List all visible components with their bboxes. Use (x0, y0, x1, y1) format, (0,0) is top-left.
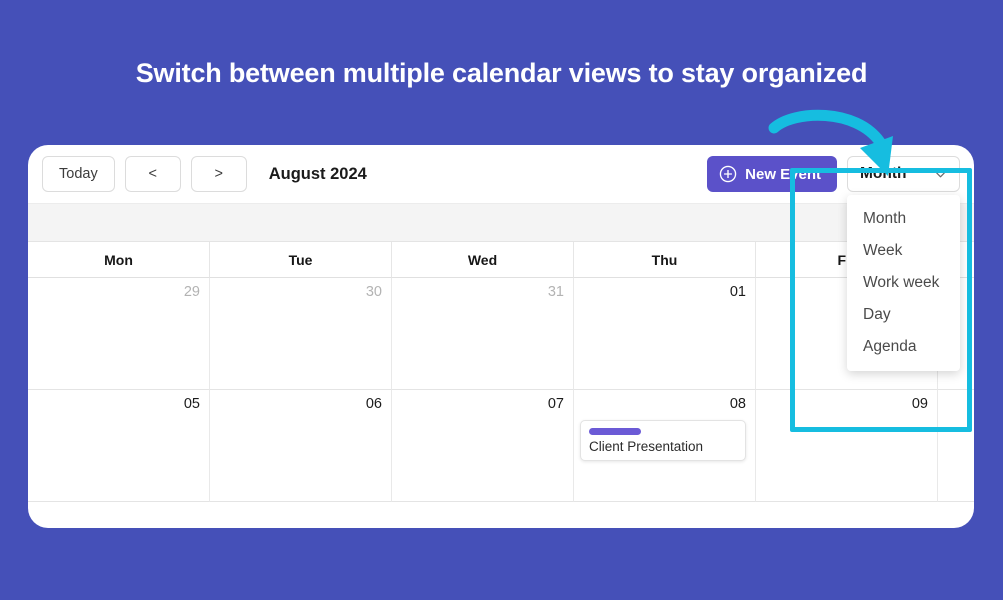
toolbar-right-group: New Event Month MonthWeekWork weekDayAge… (707, 156, 960, 192)
day-number: 29 (34, 284, 200, 300)
view-option-agenda[interactable]: Agenda (847, 331, 960, 363)
calendar-app-card: Today < > August 2024 New Event Month (28, 145, 974, 528)
calendar-day-cell[interactable]: 29 (28, 278, 210, 390)
calendar-grid: 29303101020305060708Client Presentation0… (28, 278, 974, 502)
day-number: 08 (580, 396, 746, 412)
new-event-button[interactable]: New Event (707, 156, 837, 192)
day-number: 31 (398, 284, 564, 300)
day-number: 09 (762, 396, 928, 412)
calendar-day-cell[interactable]: 30 (210, 278, 392, 390)
day-header-wed: Wed (392, 242, 574, 278)
view-select-value: Month (860, 165, 906, 183)
day-number: 06 (216, 396, 382, 412)
day-number: 05 (34, 396, 200, 412)
plus-circle-icon (719, 165, 737, 183)
view-option-day[interactable]: Day (847, 299, 960, 331)
chevron-down-icon (934, 168, 947, 181)
view-select-button[interactable]: Month (847, 156, 960, 192)
day-header-thu: Thu (574, 242, 756, 278)
calendar-toolbar: Today < > August 2024 New Event Month (28, 145, 974, 203)
view-option-work-week[interactable]: Work week (847, 267, 960, 299)
today-button[interactable]: Today (42, 156, 115, 192)
new-event-label: New Event (745, 166, 821, 183)
view-option-week[interactable]: Week (847, 235, 960, 267)
event-color-bar (589, 428, 641, 435)
view-select-wrapper: Month MonthWeekWork weekDayAgenda (847, 156, 960, 192)
previous-month-button[interactable]: < (125, 156, 181, 192)
calendar-day-cell[interactable]: 07 (392, 390, 574, 502)
calendar-day-cell[interactable]: 01 (574, 278, 756, 390)
day-number: 07 (398, 396, 564, 412)
day-number: 30 (216, 284, 382, 300)
calendar-week-row: 293031010203 (28, 278, 974, 390)
view-select-dropdown[interactable]: MonthWeekWork weekDayAgenda (847, 195, 960, 371)
day-number: 10 (944, 396, 974, 412)
calendar-event[interactable]: Client Presentation (580, 420, 746, 461)
calendar-day-headers: MonTueWedThuFriSat (28, 242, 974, 278)
current-month-label: August 2024 (269, 165, 367, 184)
toolbar-divider-band (28, 203, 974, 242)
event-title: Client Presentation (589, 439, 737, 454)
view-option-month[interactable]: Month (847, 203, 960, 235)
calendar-day-cell[interactable]: 05 (28, 390, 210, 502)
next-month-button[interactable]: > (191, 156, 247, 192)
calendar-day-cell[interactable]: 10 (938, 390, 974, 502)
calendar-day-cell[interactable]: 06 (210, 390, 392, 502)
day-header-mon: Mon (28, 242, 210, 278)
calendar-day-cell[interactable]: 08Client Presentation (574, 390, 756, 502)
day-header-tue: Tue (210, 242, 392, 278)
calendar-day-cell[interactable]: 31 (392, 278, 574, 390)
day-number: 01 (580, 284, 746, 300)
page-title: Switch between multiple calendar views t… (0, 58, 1003, 89)
calendar-week-row: 05060708Client Presentation0910 (28, 390, 974, 502)
calendar-day-cell[interactable]: 09 (756, 390, 938, 502)
